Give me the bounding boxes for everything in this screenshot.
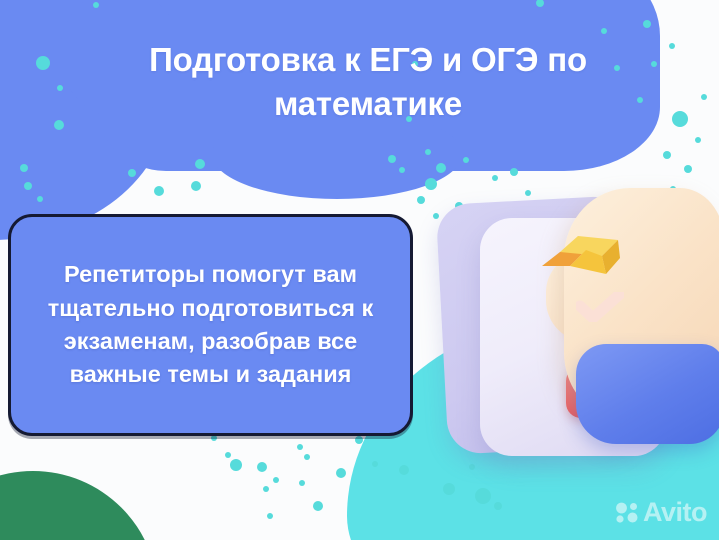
decorative-dot bbox=[663, 151, 671, 159]
decorative-dot bbox=[128, 169, 136, 177]
decorative-dot bbox=[669, 43, 675, 49]
decorative-dot bbox=[601, 28, 607, 34]
decorative-dot bbox=[20, 164, 28, 172]
decorative-dot bbox=[436, 163, 446, 173]
decorative-dot bbox=[355, 436, 363, 444]
decorative-dot bbox=[336, 468, 346, 478]
decorative-dot bbox=[399, 465, 409, 475]
decorative-dot bbox=[267, 513, 273, 519]
decorative-dot bbox=[425, 178, 437, 190]
decorative-dot bbox=[24, 182, 32, 190]
decorative-dot bbox=[399, 167, 405, 173]
decorative-dot bbox=[230, 459, 242, 471]
decorative-dot bbox=[651, 61, 657, 67]
decorative-dot bbox=[93, 2, 99, 8]
decorative-dot bbox=[36, 56, 50, 70]
decorative-dot bbox=[510, 168, 518, 176]
decorative-dot bbox=[299, 480, 305, 486]
decorative-dot bbox=[263, 486, 269, 492]
decorative-dot bbox=[297, 444, 303, 450]
decorative-dot bbox=[643, 20, 651, 28]
avito-watermark-text: Avito bbox=[643, 499, 707, 526]
page-title: Подготовка к ЕГЭ и ОГЭ по математике bbox=[88, 38, 648, 126]
decorative-dot bbox=[257, 462, 267, 472]
avito-watermark: Avito bbox=[615, 499, 707, 526]
checklist-hand-eraser-illustration bbox=[424, 196, 719, 486]
decorative-dot bbox=[492, 175, 498, 181]
advertisement-canvas: Подготовка к ЕГЭ и ОГЭ по математике Реп… bbox=[0, 0, 719, 540]
decorative-dot bbox=[475, 488, 491, 504]
decorative-dot bbox=[672, 111, 688, 127]
yellow-eraser-icon bbox=[540, 232, 624, 284]
white-checkmark-icon bbox=[576, 292, 624, 322]
decorative-dot bbox=[684, 165, 692, 173]
decorative-dot bbox=[37, 196, 43, 202]
description-card: Репетиторы помогут вам тщательно подгото… bbox=[8, 214, 413, 436]
decorative-dot bbox=[463, 157, 469, 163]
decorative-dot bbox=[57, 85, 63, 91]
decorative-dot bbox=[195, 159, 205, 169]
decorative-dot bbox=[372, 461, 378, 467]
decorative-dot bbox=[191, 181, 201, 191]
decorative-dot bbox=[313, 501, 323, 511]
decorative-dot bbox=[54, 120, 64, 130]
green-corner-shape bbox=[0, 471, 158, 540]
decorative-dot bbox=[273, 477, 279, 483]
decorative-dot bbox=[304, 454, 310, 460]
decorative-dot bbox=[701, 94, 707, 100]
decorative-dot bbox=[388, 155, 396, 163]
avito-dots-logo-icon bbox=[615, 502, 639, 524]
description-text: Репетиторы помогут вам тщательно подгото… bbox=[11, 258, 410, 391]
decorative-dot bbox=[494, 502, 502, 510]
decorative-dot bbox=[695, 137, 701, 143]
decorative-dot bbox=[154, 186, 164, 196]
blue-sleeve-cuff-icon bbox=[576, 344, 719, 444]
decorative-dot bbox=[225, 452, 231, 458]
decorative-dot bbox=[425, 149, 431, 155]
